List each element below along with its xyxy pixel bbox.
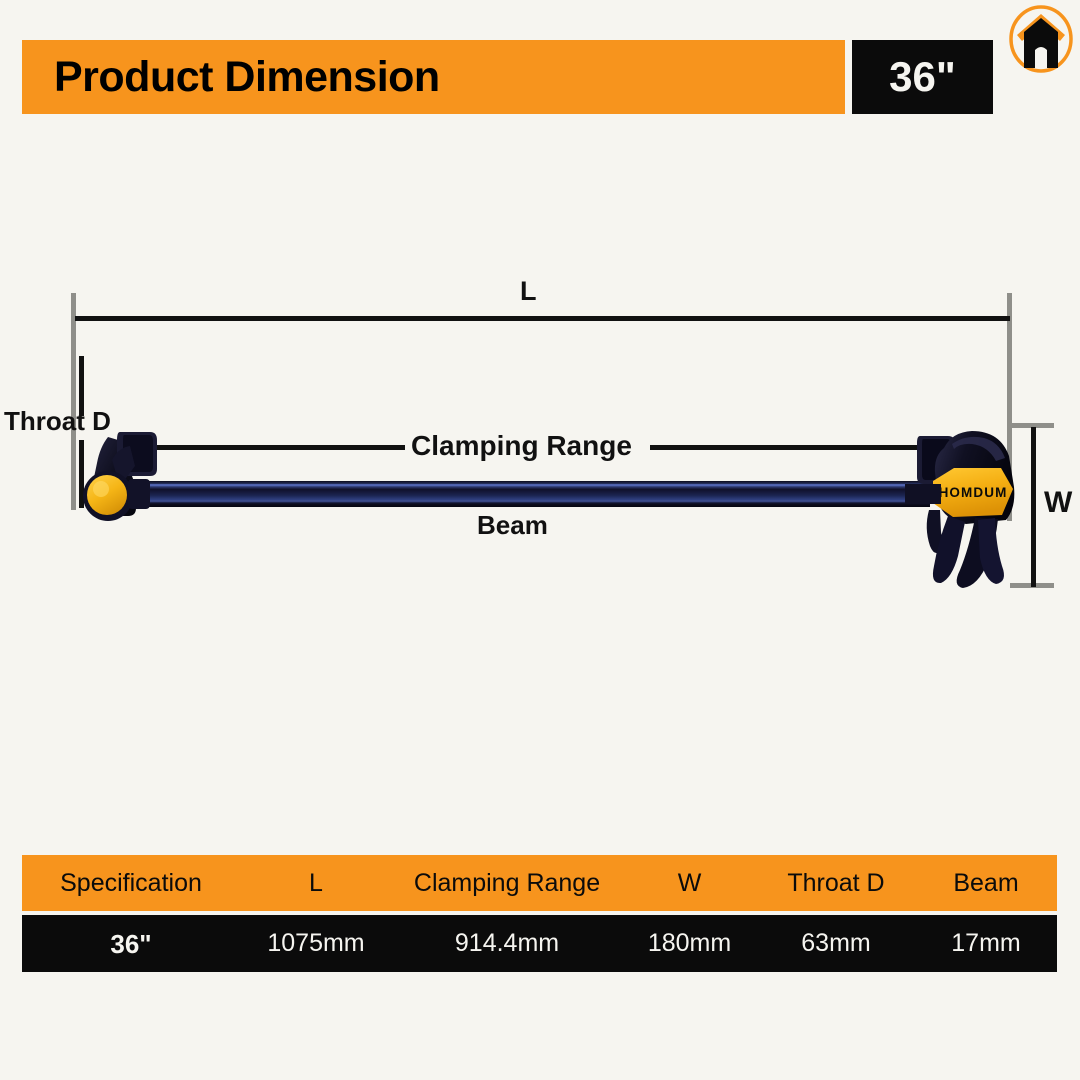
svg-text:HOMDUM: HOMDUM (939, 485, 1008, 500)
table-header-cell-clamping-range: Clamping Range (392, 871, 622, 896)
table-cell-specification: 36" (22, 931, 240, 957)
table-cell-l: 1075mm (240, 931, 392, 956)
table-header-cell-beam: Beam (915, 871, 1057, 896)
table-header-cell-throat-d: Throat D (757, 871, 915, 896)
clamp-fixed-jaw (83, 432, 157, 521)
table-header-cell-l: L (240, 871, 392, 896)
table-cell-throat-d: 63mm (757, 931, 915, 956)
table-cell-beam: 17mm (915, 931, 1057, 956)
table-header-cell-specification: Specification (22, 871, 240, 896)
clamp-handle-assembly: HOMDUM (905, 431, 1014, 588)
table-cell-clamping-range: 914.4mm (392, 931, 622, 956)
dimension-diagram: L Throat D Clamping Range Beam W (0, 0, 1080, 860)
specification-table: Specification L Clamping Range W Throat … (22, 855, 1057, 972)
table-header-row: Specification L Clamping Range W Throat … (22, 855, 1057, 911)
table-header-cell-w: W (622, 871, 757, 896)
table-cell-w: 180mm (622, 931, 757, 956)
table-row: 36" 1075mm 914.4mm 180mm 63mm 17mm (22, 915, 1057, 972)
bar-clamp-product-image: HOMDUM (0, 0, 1080, 860)
